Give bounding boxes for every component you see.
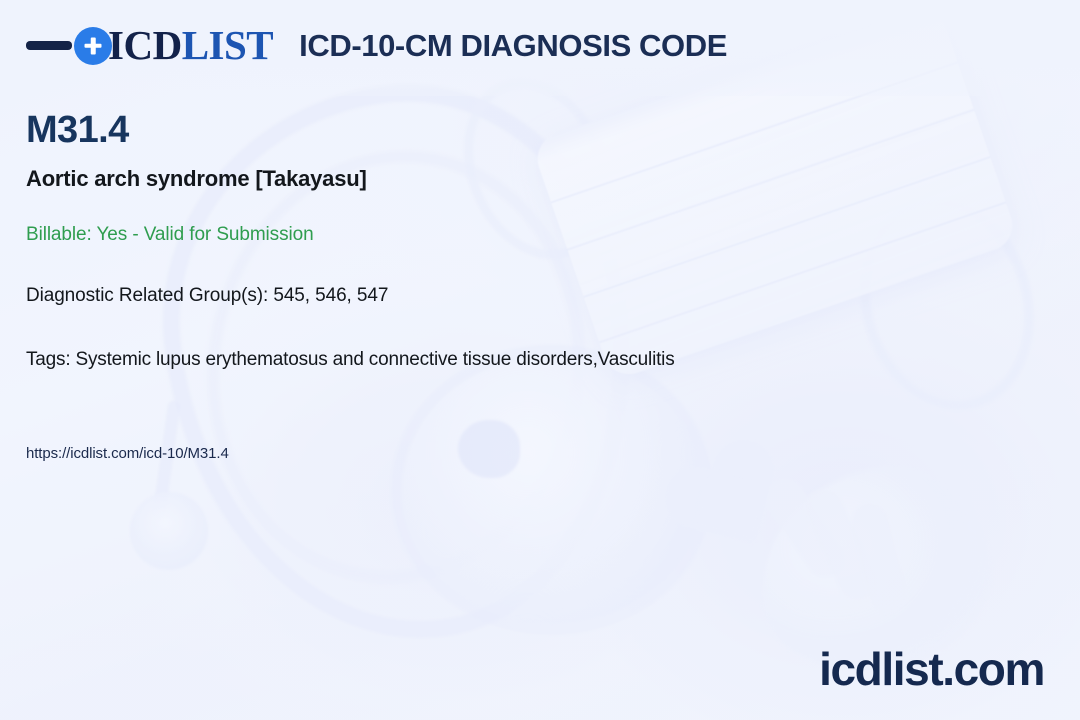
icd-description: Aortic arch syndrome [Takayasu] [26,166,367,192]
icdlist-logo[interactable]: ICDLIST [26,25,273,66]
billable-status: Billable: Yes - Valid for Submission [26,224,314,246]
plus-icon [74,27,112,65]
diagnostic-related-groups: Diagnostic Related Group(s): 545, 546, 5… [26,285,388,307]
icd-code-card: ICDLIST ICD-10-CM DIAGNOSIS CODE M31.4 A… [0,0,1080,720]
tags-list: Tags: Systemic lupus erythematosus and c… [26,349,675,371]
page-title: ICD-10-CM DIAGNOSIS CODE [299,28,727,64]
logo-word-list: LIST [182,22,273,68]
logo-dash-icon [26,41,72,50]
header: ICDLIST ICD-10-CM DIAGNOSIS CODE [26,25,727,66]
logo-wordmark: ICDLIST [108,25,273,66]
logo-word-icd: ICD [108,22,182,68]
source-url[interactable]: https://icdlist.com/icd-10/M31.4 [26,445,229,462]
card-content: ICDLIST ICD-10-CM DIAGNOSIS CODE M31.4 A… [0,0,1080,720]
footer-brand: icdlist.com [819,646,1044,692]
icd-code: M31.4 [26,111,129,149]
